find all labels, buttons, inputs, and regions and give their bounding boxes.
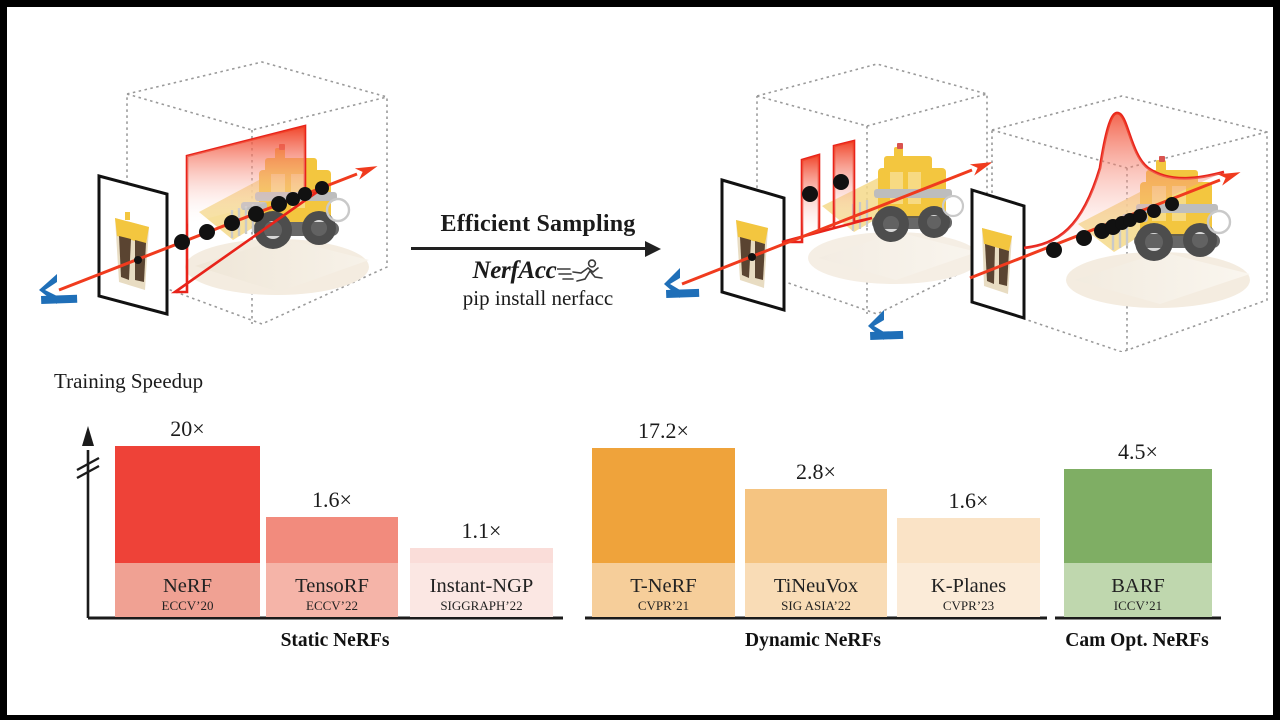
bar-value-label: 1.6×: [897, 488, 1040, 514]
bar-venue: SIG ASIA’22: [745, 598, 887, 614]
bar-venue: ECCV’22: [266, 598, 398, 614]
bar-value-label: 2.8×: [745, 459, 887, 485]
figure-canvas: Efficient Sampling NerfAcc pip install n…: [7, 7, 1273, 715]
pipeline-arrow-block: Efficient Sampling NerfAcc pip install n…: [403, 212, 673, 311]
bar-name: K-Planes: [897, 575, 1040, 597]
bar-caption: Instant-NGP SIGGRAPH’22: [410, 575, 553, 614]
bar-nerf[interactable]: NeRF ECCV’20: [115, 446, 260, 617]
group-label-camopt: Cam Opt. NeRFs: [1037, 630, 1237, 652]
camera-frustum-icon-2: [868, 310, 903, 340]
ray-arrowhead: [355, 161, 380, 180]
bar-tineuvox[interactable]: TiNeuVox SIG ASIA’22: [745, 489, 887, 617]
bar-value-label: 1.6×: [266, 487, 398, 513]
bar-caption: T-NeRF CVPR’21: [592, 575, 735, 614]
bar-name: TiNeuVox: [745, 575, 887, 597]
bar-value-label: 20×: [115, 416, 260, 442]
bar-caption: TiNeuVox SIG ASIA’22: [745, 575, 887, 614]
bar-value-label: 4.5×: [1064, 439, 1212, 465]
scene-after-pdf: [962, 52, 1273, 352]
bar-venue: SIGGRAPH’22: [410, 598, 553, 614]
bar-caption: NeRF ECCV’20: [115, 575, 260, 614]
bar-venue: ECCV’20: [115, 598, 260, 614]
nerfacc-row: NerfAcc: [403, 257, 673, 285]
bar-caption: K-Planes CVPR’23: [897, 575, 1040, 614]
bar-barf[interactable]: BARF ICCV’21: [1064, 469, 1212, 617]
arrow-line: [403, 240, 673, 256]
image-plane: [972, 190, 1024, 318]
bar-name: Instant-NGP: [410, 575, 553, 597]
nerfacc-wordmark: NerfAcc: [473, 257, 557, 285]
bar-venue: ICCV’21: [1064, 598, 1212, 614]
arrow-title: Efficient Sampling: [403, 212, 673, 237]
install-command: pip install nerfacc: [403, 286, 673, 311]
bar-venue: CVPR’21: [592, 598, 735, 614]
image-plane: [99, 176, 167, 314]
group-label-dynamic: Dynamic NeRFs: [713, 630, 913, 652]
training-speedup-chart: Training Speedup 20× 1.6× 1.1× 17.2× 2.8…: [7, 362, 1273, 662]
group-label-static: Static NeRFs: [235, 630, 435, 652]
ray-arrowhead: [1218, 167, 1243, 186]
bar-caption: TensoRF ECCV’22: [266, 575, 398, 614]
bar-name: NeRF: [115, 575, 260, 597]
scene-after-occupancy: [662, 52, 992, 352]
camera-frustum-icon: [39, 274, 77, 304]
bar-tensorf[interactable]: TensoRF ECCV’22: [266, 517, 398, 617]
scene-before: [27, 52, 397, 352]
bar-k-planes[interactable]: K-Planes CVPR’23: [897, 518, 1040, 617]
bar-name: TensoRF: [266, 575, 398, 597]
bar-caption: BARF ICCV’21: [1064, 575, 1212, 614]
bar-name: T-NeRF: [592, 575, 735, 597]
figure-frame: Efficient Sampling NerfAcc pip install n…: [0, 0, 1280, 720]
image-plane: [722, 180, 784, 310]
bar-t-nerf[interactable]: T-NeRF CVPR’21: [592, 448, 735, 617]
running-person-icon: [557, 258, 603, 284]
bar-value-label: 17.2×: [592, 418, 735, 444]
bar-name: BARF: [1064, 575, 1212, 597]
bar-value-label: 1.1×: [410, 518, 553, 544]
bar-venue: CVPR’23: [897, 598, 1040, 614]
bar-instant-ngp[interactable]: Instant-NGP SIGGRAPH’22: [410, 548, 553, 617]
